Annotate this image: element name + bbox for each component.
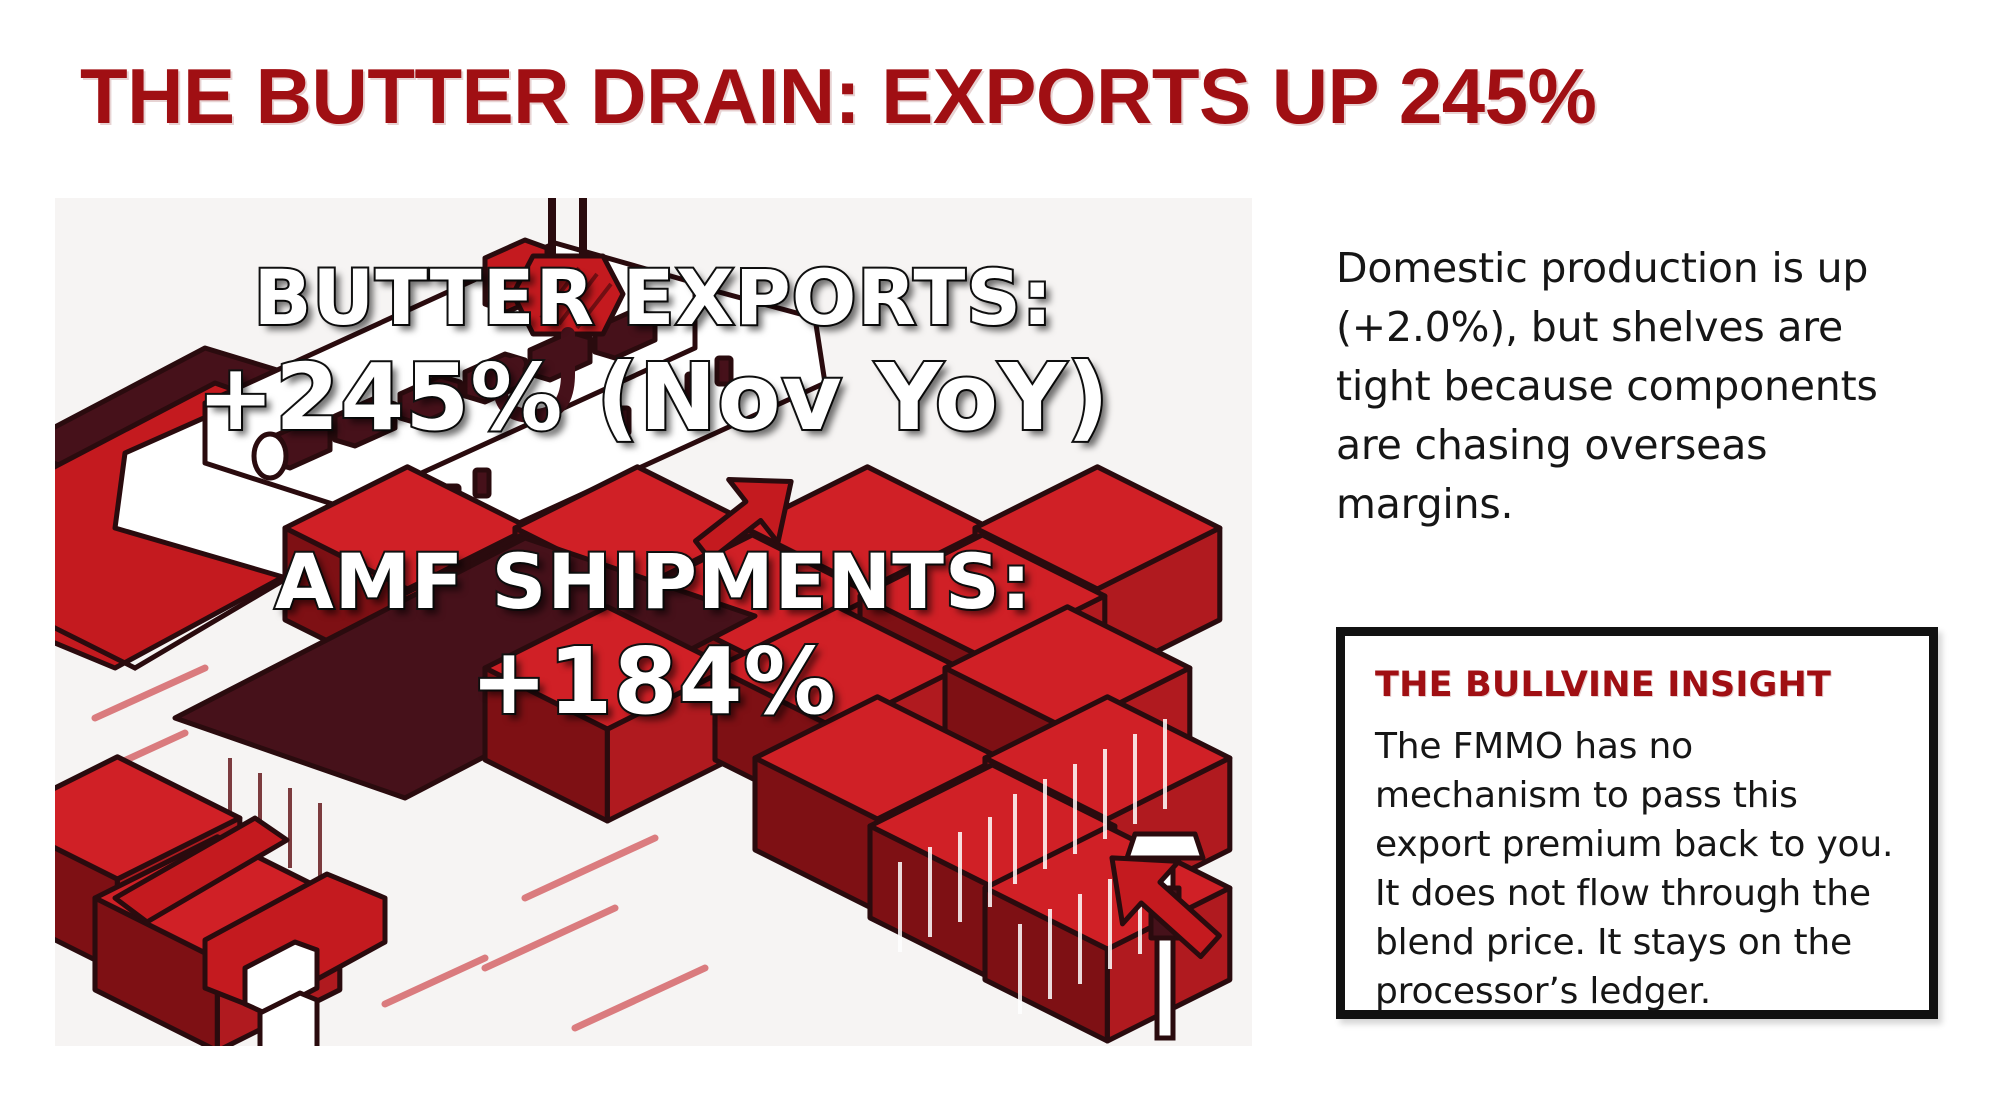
insight-body: The FMMO has no mechanism to pass this e… <box>1375 722 1899 1016</box>
right-column: Domestic production is up (+2.0%), but s… <box>1336 198 1940 575</box>
page-title: THE BUTTER DRAIN: EXPORTS UP 245% <box>80 52 1940 140</box>
cargo-ship-containers-icon: .bg { fill:#f6f4f3; } .top { fill:#d0202… <box>55 198 1252 1046</box>
cargo-ship-illustration-panel: .bg { fill:#f6f4f3; } .top { fill:#d0202… <box>55 198 1252 1046</box>
infographic-canvas: THE BUTTER DRAIN: EXPORTS UP 245% .bg { … <box>0 0 2000 1116</box>
insight-title: THE BULLVINE INSIGHT <box>1375 664 1899 706</box>
insight-callout-box: THE BULLVINE INSIGHT The FMMO has no mec… <box>1336 627 1938 1019</box>
insight-inner: THE BULLVINE INSIGHT The FMMO has no mec… <box>1345 636 1929 1016</box>
lede-paragraph: Domestic production is up (+2.0%), but s… <box>1336 239 1936 534</box>
